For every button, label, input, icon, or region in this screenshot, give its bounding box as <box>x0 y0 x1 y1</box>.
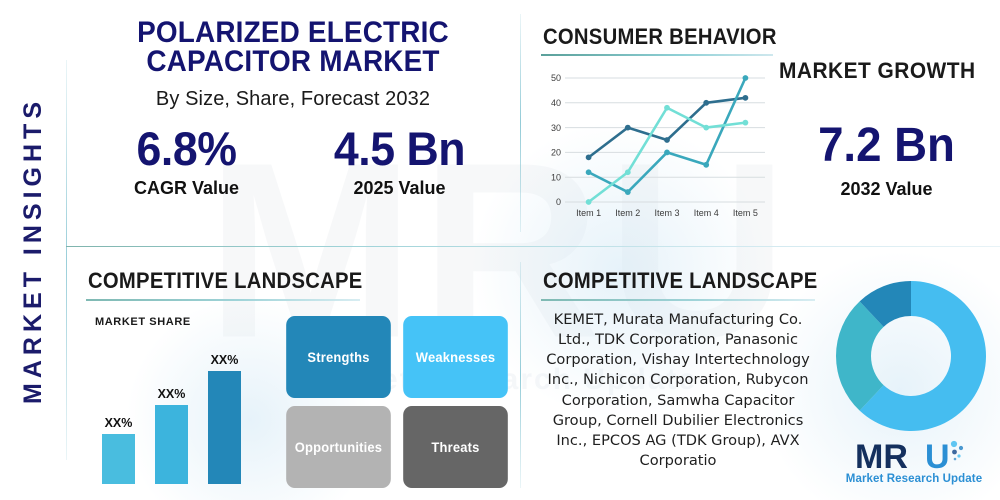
line-data-point <box>703 125 709 131</box>
bubble-icon <box>951 440 957 446</box>
line-data-point <box>664 150 670 156</box>
swot-box-strengths[interactable]: Strengths <box>286 316 391 398</box>
swot-box-opportunities[interactable]: Opportunities <box>286 406 391 488</box>
swot-label-opportunities: Opportunities <box>295 440 382 455</box>
kpi-row: 6.8% CAGR Value 4.5 Bn 2025 Value <box>66 125 520 199</box>
market-growth-title: MARKET GROWTH <box>779 58 976 84</box>
mru-logo-tagline: Market Research Update <box>846 473 982 485</box>
y-axis-tick-label: 30 <box>551 123 561 133</box>
infographic-poster: MRU Market Research Update MARKET INSIGH… <box>0 0 1000 500</box>
bubble-icon <box>954 457 957 460</box>
company-list: KEMET, Murata Manufacturing Co. Ltd., TD… <box>537 310 819 471</box>
mru-logo-svg: MR U <box>855 438 973 474</box>
bubble-icon <box>959 445 963 449</box>
x-axis-tick-label: Item 5 <box>733 208 758 218</box>
market-share-donut-chart <box>831 276 991 436</box>
x-axis-tick-label: Item 4 <box>694 208 719 218</box>
line-series <box>589 78 746 192</box>
market-share-bar <box>102 434 135 484</box>
donut-chart-svg <box>831 276 991 436</box>
kpi-cagr-label: CAGR Value <box>80 178 293 199</box>
competitive-landscape-right-panel: COMPETITIVE LANDSCAPE KEMET, Murata Manu… <box>521 254 1000 500</box>
line-data-point <box>586 154 592 160</box>
swot-label-strengths: Strengths <box>307 350 369 365</box>
line-data-point <box>625 125 631 131</box>
line-data-point <box>664 137 670 143</box>
mru-logo-u: U <box>925 438 950 474</box>
market-share-bar-label: XX% <box>203 353 247 367</box>
line-data-point <box>743 95 749 101</box>
horizontal-divider <box>66 246 1000 247</box>
kpi-2025: 4.5 Bn 2025 Value <box>293 125 506 199</box>
line-data-point <box>664 105 670 111</box>
consumer-behavior-panel: CONSUMER BEHAVIOR MARKET GROWTH 7.2 Bn 2… <box>521 6 1000 246</box>
line-data-point <box>625 189 631 195</box>
bubble-icon <box>957 454 960 457</box>
line-chart-svg: 01020304050Item 1Item 2Item 3Item 4Item … <box>537 68 773 228</box>
kpi-cagr-value: 6.8% <box>85 125 287 172</box>
market-insights-rail: MARKET INSIGHTS <box>0 0 66 500</box>
consumer-behavior-title: CONSUMER BEHAVIOR <box>543 24 777 50</box>
swot-grid: Strengths Weaknesses Opportunities Threa… <box>284 316 510 488</box>
competitive-landscape-left-title: COMPETITIVE LANDSCAPE <box>88 268 363 294</box>
competitive-landscape-right-title: COMPETITIVE LANDSCAPE <box>543 268 818 294</box>
x-axis-tick-label: Item 2 <box>615 208 640 218</box>
line-data-point <box>743 120 749 126</box>
line-data-point <box>743 75 749 81</box>
line-data-point <box>703 100 709 106</box>
market-share-bar-label: XX% <box>150 387 194 401</box>
consumer-behavior-line-chart: 01020304050Item 1Item 2Item 3Item 4Item … <box>537 68 773 228</box>
mru-logo-mark: MR U <box>855 438 973 472</box>
x-axis-tick-label: Item 3 <box>654 208 679 218</box>
line-data-point <box>703 162 709 168</box>
market-insights-rail-label: MARKET INSIGHTS <box>19 97 48 404</box>
market-share-bar-label: XX% <box>97 416 141 430</box>
market-share-label: MARKET SHARE <box>95 316 191 328</box>
y-axis-tick-label: 20 <box>551 148 561 158</box>
kpi-2025-value: 4.5 Bn <box>298 125 500 172</box>
swot-label-weaknesses: Weaknesses <box>416 350 496 365</box>
bubble-icon <box>952 449 957 454</box>
page-title: POLARIZED ELECTRIC CAPACITOR MARKET <box>82 18 504 76</box>
x-axis-tick-label: Item 1 <box>576 208 601 218</box>
competitive-landscape-left-panel: COMPETITIVE LANDSCAPE MARKET SHARE XX%XX… <box>66 254 520 500</box>
vertical-divider-bottom <box>520 262 521 488</box>
line-data-point <box>586 199 592 205</box>
kpi-cagr: 6.8% CAGR Value <box>80 125 293 199</box>
market-growth-value: 7.2 Bn <box>784 118 988 173</box>
line-data-point <box>586 169 592 175</box>
rail-divider <box>66 60 67 460</box>
competitive-landscape-right-rule <box>541 299 815 301</box>
market-growth-label: 2032 Value <box>779 179 994 200</box>
market-share-bar <box>208 371 241 484</box>
competitive-landscape-left-rule <box>86 299 360 301</box>
consumer-behavior-rule <box>541 54 773 56</box>
line-data-point <box>625 169 631 175</box>
market-share-bar-chart: XX%XX%XX% <box>90 330 280 484</box>
mru-logo-mr: MR <box>855 438 908 474</box>
swot-box-threats[interactable]: Threats <box>403 406 508 488</box>
swot-box-weaknesses[interactable]: Weaknesses <box>403 316 508 398</box>
mru-logo: MR U Market Research Update <box>839 430 989 492</box>
title-panel: POLARIZED ELECTRIC CAPACITOR MARKET By S… <box>66 6 520 246</box>
vertical-divider-top <box>520 14 521 232</box>
y-axis-tick-label: 40 <box>551 98 561 108</box>
y-axis-tick-label: 0 <box>556 197 561 207</box>
swot-label-threats: Threats <box>431 440 479 455</box>
kpi-2025-label: 2025 Value <box>293 178 506 199</box>
market-share-bar <box>155 405 188 484</box>
y-axis-tick-label: 10 <box>551 172 561 182</box>
y-axis-tick-label: 50 <box>551 73 561 83</box>
page-subtitle: By Size, Share, Forecast 2032 <box>66 88 520 111</box>
